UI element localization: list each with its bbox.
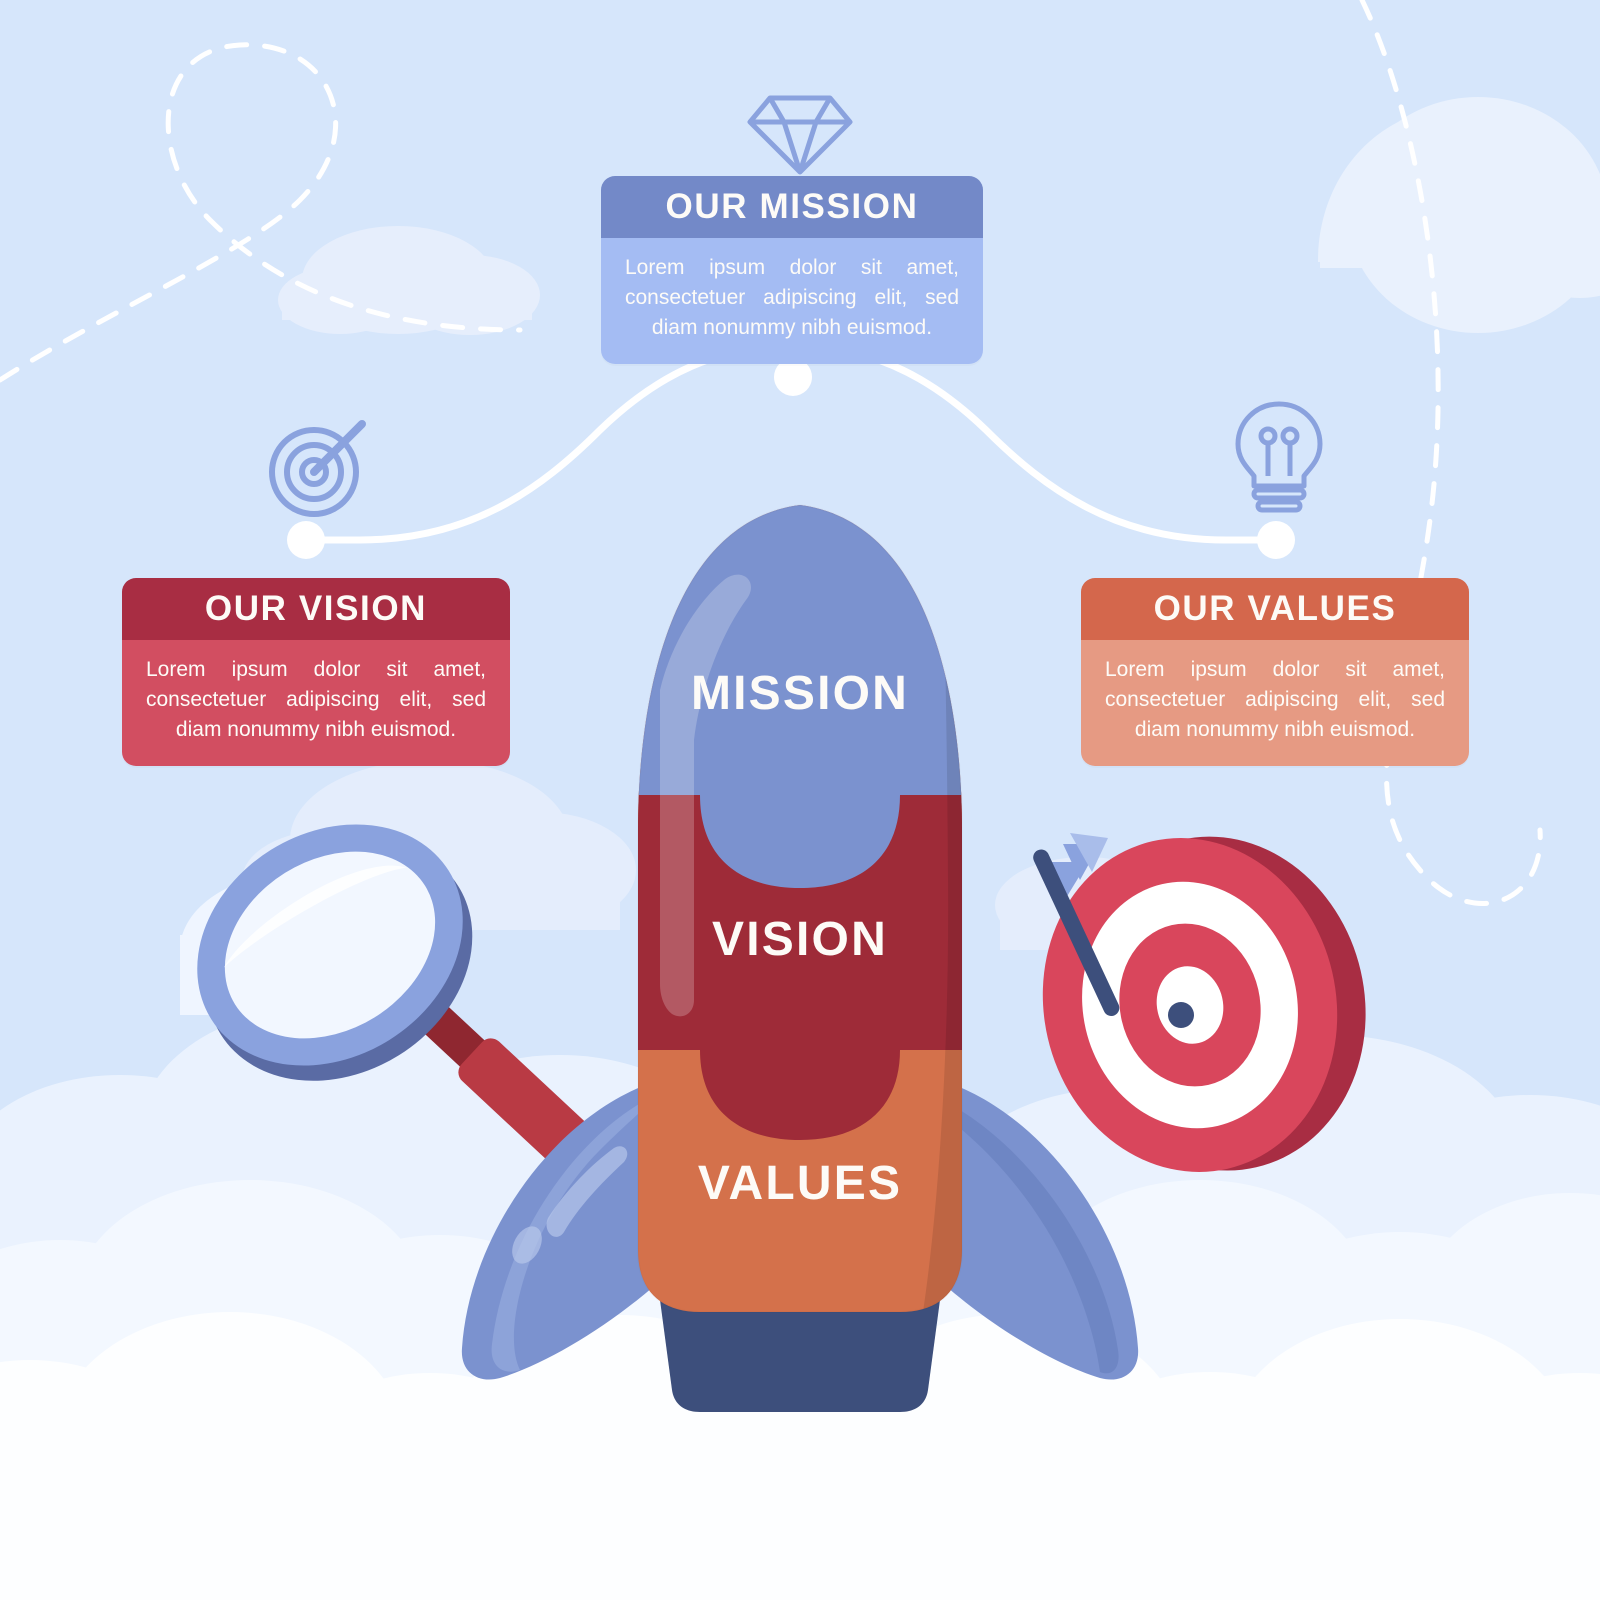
infographic-canvas: MISSION VISION VALUES OUR MISSION Lorem …	[0, 0, 1600, 1600]
magnifier-illustration	[152, 776, 593, 1169]
connector-node-right	[1257, 521, 1295, 559]
card-mission-body: Lorem ipsum dolor sit amet, consectetuer…	[601, 238, 983, 364]
arrow-tip	[1168, 1002, 1194, 1028]
nozzle-body	[660, 1300, 940, 1412]
card-values[interactable]: OUR VALUES Lorem ipsum dolor sit amet, c…	[1081, 578, 1469, 766]
card-mission-title: OUR MISSION	[601, 176, 983, 238]
card-vision[interactable]: OUR VISION Lorem ipsum dolor sit amet, c…	[122, 578, 510, 766]
target-illustration	[1010, 802, 1399, 1206]
card-vision-title: OUR VISION	[122, 578, 510, 640]
diamond-icon	[744, 92, 856, 176]
target-icon	[266, 414, 372, 520]
card-vision-body: Lorem ipsum dolor sit amet, consectetuer…	[122, 640, 510, 766]
card-mission[interactable]: OUR MISSION Lorem ipsum dolor sit amet, …	[601, 176, 983, 364]
rocket-label-values: VALUES	[0, 1156, 1600, 1211]
card-values-body: Lorem ipsum dolor sit amet, consectetuer…	[1081, 640, 1469, 766]
rocket-label-vision: VISION	[0, 912, 1600, 967]
card-values-title: OUR VALUES	[1081, 578, 1469, 640]
lightbulb-icon	[1228, 398, 1330, 516]
connector-node-left	[287, 521, 325, 559]
